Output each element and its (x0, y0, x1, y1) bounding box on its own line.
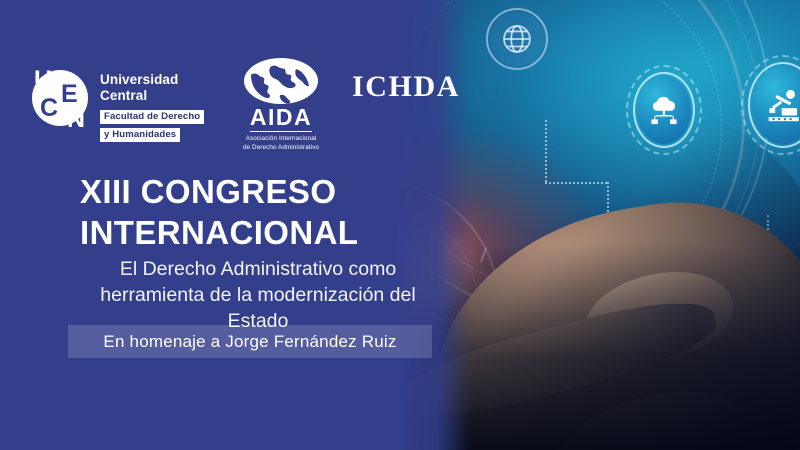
page-title: XIII CONGRESO INTERNACIONAL (80, 172, 358, 254)
ucen-letter-u: U (34, 68, 51, 93)
ucen-letter-e: E (61, 82, 77, 107)
ucen-faculty-line2: y Humanidades (100, 128, 180, 142)
title-line2: INTERNACIONAL (80, 213, 358, 254)
globe-icon (486, 8, 548, 70)
title-line1: XIII CONGRESO (80, 172, 358, 213)
subtitle-line1: El Derecho Administrativo como (68, 256, 448, 282)
homage-text: En homenaje a Jorge Fernández Ruiz (103, 332, 396, 352)
ichda-logo: ICHDA (352, 70, 460, 104)
homage-banner: En homenaje a Jorge Fernández Ruiz (68, 325, 432, 358)
ucen-logo-text: Universidad Central Facultad de Derecho … (100, 72, 204, 142)
page-subtitle: El Derecho Administrativo como herramien… (68, 256, 448, 334)
aida-acronym: AIDA (250, 106, 312, 132)
ucen-faculty-line1: Facultad de Derecho (100, 110, 204, 124)
aida-subtitle-line1: Asociación Internacional (233, 135, 329, 144)
ucen-name-line2: Central (100, 88, 204, 104)
aida-subtitle-line2: de Derecho Administrativo (233, 144, 329, 153)
conference-poster: U C E N Universidad Central Facultad de … (0, 0, 800, 450)
ucen-name-line1: Universidad (100, 72, 204, 88)
aida-world-icon-glyph (244, 58, 318, 104)
ucen-letter-c: C (40, 96, 57, 121)
aida-logo: AIDA Asociación Internacional de Derecho… (233, 58, 329, 152)
ucen-letter-n: N (67, 107, 84, 132)
ucen-logo-mark: U C E N (24, 62, 96, 134)
globe-icon-glyph (499, 21, 535, 57)
aida-world-icon (244, 58, 318, 104)
